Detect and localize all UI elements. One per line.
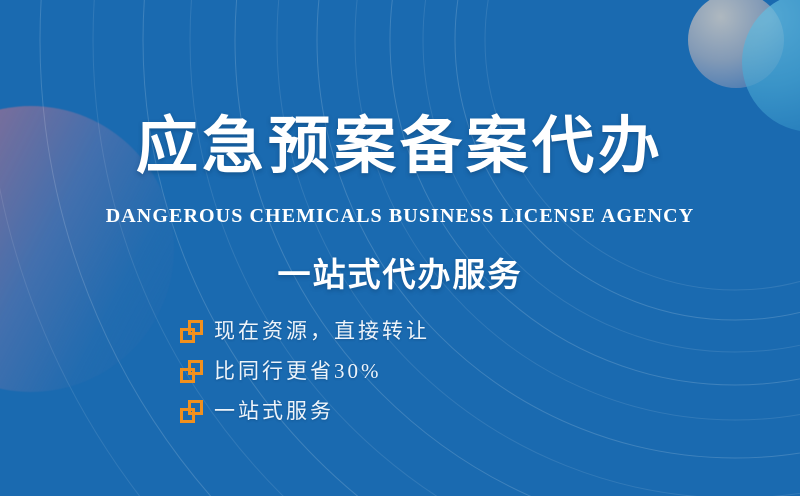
list-item: 一站式服务: [180, 398, 430, 424]
page-title: 应急预案备案代办: [0, 116, 800, 178]
overlapping-squares-icon: [180, 320, 203, 343]
banner-content: 应急预案备案代办 DANGEROUS CHEMICALS BUSINESS LI…: [0, 0, 800, 496]
feature-label: 一站式服务: [214, 401, 334, 422]
chinese-subtitle: 一站式代办服务: [0, 248, 800, 296]
list-item: 比同行更省30%: [180, 358, 430, 384]
feature-list: 现在资源，直接转让 比同行更省30% 一站式服务: [180, 318, 430, 424]
list-item: 现在资源，直接转让: [180, 318, 430, 344]
feature-label: 现在资源，直接转让: [214, 321, 430, 342]
overlapping-squares-icon: [180, 400, 203, 423]
overlapping-squares-icon: [180, 360, 203, 383]
feature-label: 比同行更省30%: [214, 361, 382, 382]
english-subtitle: DANGEROUS CHEMICALS BUSINESS LICENSE AGE…: [0, 205, 800, 228]
promo-banner: 应急预案备案代办 DANGEROUS CHEMICALS BUSINESS LI…: [0, 0, 800, 496]
